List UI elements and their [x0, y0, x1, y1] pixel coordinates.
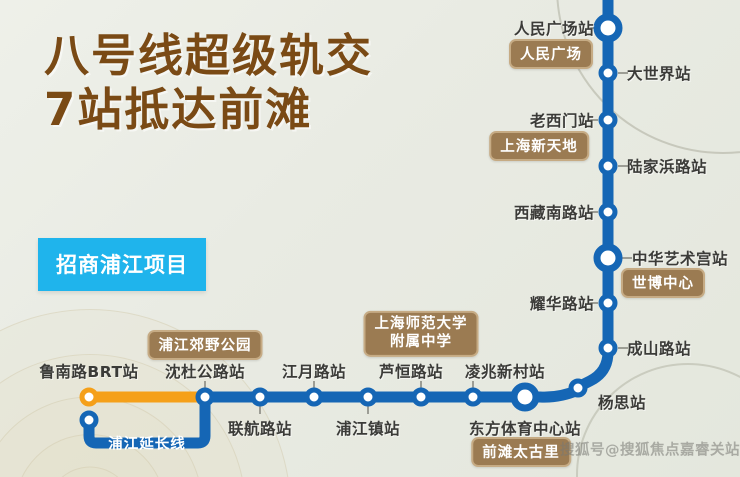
poi-tag-shishida-fuzhong-line1: 上海师范大学 — [375, 316, 468, 334]
station-dot-laoximen[interactable] — [599, 111, 618, 130]
station-dot-lunan-lu-brt[interactable] — [80, 388, 99, 407]
watermark-text: 搜狐号@搜狐焦点嘉睿关站 — [560, 439, 740, 460]
corner-arc-bottom-right — [576, 363, 740, 477]
poi-tag-shanghai-xintiandi[interactable]: 上海新天地 — [489, 131, 589, 161]
poi-tag-renmin-guangchang[interactable]: 人民广场 — [509, 39, 593, 69]
station-dot-shendu-gonglu[interactable] — [196, 388, 215, 407]
station-label-jiangyue-lu: 江月路站 — [282, 360, 346, 382]
station-dot-dongfang-tiyu-zhongxin[interactable] — [511, 383, 540, 412]
station-label-dongfang-tiyu-zhongxin: 东方体育中心站 — [469, 417, 581, 439]
poi-tag-pujiang-jiaoye-gongyuan[interactable]: 浦江郊野公园 — [148, 330, 263, 360]
poi-tag-qiantan-taikoo-li[interactable]: 前滩太古里 — [471, 437, 571, 467]
station-label-lujiabang-lu: 陆家浜路站 — [627, 155, 707, 177]
station-dot-chengshan-lu[interactable] — [599, 339, 618, 358]
station-label-pujiang-zhen: 浦江镇站 — [336, 417, 400, 439]
station-dot-dashijie[interactable] — [599, 64, 618, 83]
poi-tag-shishida-fuzhong-line2: 附属中学 — [375, 334, 468, 352]
station-label-xizang-nan-lu: 西藏南路站 — [514, 201, 594, 223]
poi-tag-shishida-fuzhong[interactable]: 上海师范大学 附属中学 — [364, 311, 479, 357]
station-dot-lianhang-lu[interactable] — [251, 388, 270, 407]
station-label-zhonghua-yishugong: 中华艺术宫站 — [632, 247, 728, 269]
metro-line-poster: 八号线超级轨交 7站抵达前滩 招商浦江项目 — [0, 0, 740, 477]
headline-block: 八号线超级轨交 7站抵达前滩 — [44, 32, 373, 133]
station-dot-jiangyue-lu[interactable] — [305, 388, 324, 407]
station-dot-luheng-lu[interactable] — [412, 388, 431, 407]
station-label-luheng-lu: 芦恒路站 — [379, 360, 443, 382]
station-label-chengshan-lu: 成山路站 — [627, 337, 691, 359]
station-dot-lujiabang-lu[interactable] — [599, 157, 618, 176]
station-dot-xizang-nan-lu[interactable] — [599, 203, 618, 222]
station-label-yangsi: 杨思站 — [598, 391, 646, 413]
station-label-yaohua-lu: 耀华路站 — [530, 292, 594, 314]
station-label-dashijie: 大世界站 — [627, 62, 691, 84]
station-label-lunan-lu-brt: 鲁南路BRT站 — [39, 360, 138, 382]
station-label-laoximen: 老西门站 — [530, 109, 594, 131]
poi-tag-shibo-zhongxin[interactable]: 世博中心 — [621, 268, 705, 298]
station-dot-renmin-guangchang[interactable] — [594, 14, 623, 43]
branch-line-label-pujiang-extension: 浦江延长线 — [108, 433, 186, 454]
station-label-lianhang-lu: 联航路站 — [228, 417, 292, 439]
headline-line2: 7站抵达前滩 — [44, 86, 373, 134]
station-label-shendu-gonglu: 沈杜公路站 — [165, 360, 245, 382]
station-label-renmin-guangchang: 人民广场站 — [514, 17, 594, 39]
station-dot-yaohua-lu[interactable] — [599, 294, 618, 313]
station-dot-pujiang-branch-terminus[interactable] — [80, 411, 99, 430]
station-dot-pujiang-zhen[interactable] — [359, 388, 378, 407]
station-dot-yangsi[interactable] — [569, 379, 588, 398]
station-dot-zhonghua-yishugong[interactable] — [594, 244, 623, 273]
headline-line1: 八号线超级轨交 — [44, 32, 373, 80]
project-badge[interactable]: 招商浦江项目 — [38, 238, 206, 291]
station-label-lingzhao-xincun: 凌兆新村站 — [465, 360, 545, 382]
station-dot-lingzhao-xincun[interactable] — [464, 388, 483, 407]
